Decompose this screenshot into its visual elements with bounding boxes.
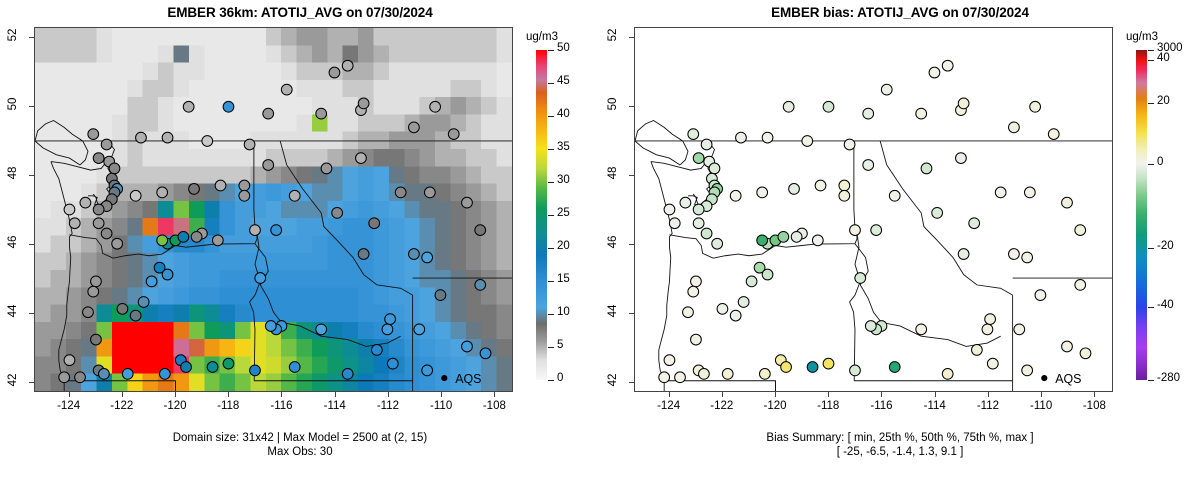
colorbar-units: ug/m3 (526, 31, 558, 43)
panel-model-caption-line2: Max Obs: 30 (0, 445, 600, 459)
panel-model: EMBER 36km: ATOTIJ_AVG on 07/30/2024 AQS… (0, 0, 600, 479)
model-map-layer: AQS (35, 28, 512, 391)
y-tick-label: 44 (607, 298, 619, 324)
x-tick (669, 392, 670, 397)
y-tick (29, 37, 34, 38)
panel-model-title: EMBER 36km: ATOTIJ_AVG on 07/30/2024 (0, 5, 600, 20)
y-tick (629, 175, 634, 176)
colorbar-tick-label: 15 (557, 273, 570, 285)
y-tick-label: 52 (7, 22, 19, 48)
figure-canvas: EMBER 36km: ATOTIJ_AVG on 07/30/2024 AQS… (0, 0, 1200, 479)
panel-bias-plot-frame[interactable]: AQS (634, 27, 1113, 392)
colorbar-tick-label: 25 (557, 207, 570, 219)
x-tick (722, 392, 723, 397)
colorbar-tick (548, 50, 554, 51)
colorbar-tick (548, 83, 554, 84)
x-tick (494, 392, 495, 397)
colorbar-tick (548, 281, 554, 282)
colorbar-tick-label: 50 (557, 42, 570, 54)
x-tick (935, 392, 936, 397)
colorbar-tick-label: 0 (557, 372, 563, 384)
y-tick-label: 48 (607, 160, 619, 186)
x-tick-label: -120 (753, 400, 797, 412)
colorbar-tick-label: 10 (557, 306, 570, 318)
x-tick-label: -116 (859, 400, 903, 412)
panel-bias: EMBER bias: ATOTIJ_AVG on 07/30/2024 AQS… (600, 0, 1200, 479)
x-tick (1094, 392, 1095, 397)
colorbar-tick-label: 40 (557, 108, 570, 120)
svg-text:AQS: AQS (1055, 372, 1081, 386)
colorbar-tick (1148, 248, 1154, 249)
colorbar-tick (1148, 60, 1154, 61)
x-tick-label: -114 (313, 400, 357, 412)
colorbar-units: ug/m3 (1126, 31, 1158, 43)
x-tick-label: -108 (472, 400, 516, 412)
colorbar-gradient[interactable] (1136, 50, 1147, 380)
colorbar-tick-label: 20 (557, 240, 570, 252)
y-tick (29, 244, 34, 245)
colorbar-tick (548, 380, 554, 381)
colorbar-tick-label: 35 (557, 141, 570, 153)
x-tick-label: -114 (913, 400, 957, 412)
colorbar-tick (1148, 50, 1154, 51)
x-tick-label: -120 (153, 400, 197, 412)
y-tick-label: 50 (7, 91, 19, 117)
colorbar-tick-label: -280 (1157, 372, 1180, 384)
colorbar-tick (548, 248, 554, 249)
x-tick (335, 392, 336, 397)
x-tick (122, 392, 123, 397)
y-tick (629, 382, 634, 383)
colorbar-tick-label: 30 (557, 174, 570, 186)
y-tick-label: 52 (607, 22, 619, 48)
x-tick (69, 392, 70, 397)
x-tick-label: -122 (700, 400, 744, 412)
x-tick (988, 392, 989, 397)
y-tick-label: 42 (7, 367, 19, 393)
x-tick (281, 392, 282, 397)
x-tick-label: -108 (1072, 400, 1116, 412)
x-tick-label: -124 (647, 400, 691, 412)
x-tick-label: -122 (100, 400, 144, 412)
y-tick-label: 50 (607, 91, 619, 117)
x-tick (175, 392, 176, 397)
x-tick-label: -112 (966, 400, 1010, 412)
colorbar-tick (548, 347, 554, 348)
x-tick-label: -110 (419, 400, 463, 412)
colorbar-tick-label: 20 (1157, 95, 1170, 107)
y-tick-label: 46 (7, 229, 19, 255)
x-tick-label: -116 (259, 400, 303, 412)
svg-text:AQS: AQS (455, 372, 481, 386)
y-tick (629, 106, 634, 107)
panel-bias-title: EMBER bias: ATOTIJ_AVG on 07/30/2024 (600, 5, 1200, 20)
colorbar-gradient[interactable] (536, 50, 547, 380)
y-tick (29, 106, 34, 107)
colorbar-tick-label: 5 (557, 339, 563, 351)
x-tick-label: -118 (206, 400, 250, 412)
x-tick (228, 392, 229, 397)
colorbar-tick (1148, 103, 1154, 104)
y-tick (29, 175, 34, 176)
colorbar-tick-label: 0 (1157, 156, 1163, 168)
colorbar-tick (548, 215, 554, 216)
colorbar-tick (548, 116, 554, 117)
panel-model-caption-line1: Domain size: 31x42 | Max Model = 2500 at… (0, 431, 600, 445)
x-tick-label: -124 (47, 400, 91, 412)
panel-bias-caption-line2: [ -25, -6.5, -1.4, 1.3, 9.1 ] (600, 445, 1200, 459)
x-tick (828, 392, 829, 397)
x-tick-label: -110 (1019, 400, 1063, 412)
colorbar-tick-label: -40 (1157, 299, 1174, 311)
colorbar-tick (548, 149, 554, 150)
colorbar-tick-label: 45 (557, 75, 570, 87)
colorbar-tick-label: 3000 (1157, 42, 1183, 54)
y-tick-label: 48 (7, 160, 19, 186)
x-tick (388, 392, 389, 397)
bias-map-layer: AQS (635, 28, 1112, 391)
y-tick (29, 382, 34, 383)
panel-bias-caption-line1: Bias Summary: [ min, 25th %, 50th %, 75t… (600, 431, 1200, 445)
colorbar-tick (548, 314, 554, 315)
y-tick (629, 37, 634, 38)
y-tick (29, 313, 34, 314)
colorbar-tick (1148, 307, 1154, 308)
x-tick (1041, 392, 1042, 397)
y-tick (629, 313, 634, 314)
x-tick (881, 392, 882, 397)
panel-model-plot-frame[interactable]: AQS (34, 27, 513, 392)
colorbar-tick-label: -20 (1157, 240, 1174, 252)
y-tick-label: 46 (607, 229, 619, 255)
x-tick (441, 392, 442, 397)
y-tick (629, 244, 634, 245)
x-tick-label: -118 (806, 400, 850, 412)
y-tick-label: 44 (7, 298, 19, 324)
colorbar-tick (1148, 164, 1154, 165)
x-tick-label: -112 (366, 400, 410, 412)
x-tick (775, 392, 776, 397)
y-tick-label: 42 (607, 367, 619, 393)
colorbar-tick (548, 182, 554, 183)
colorbar-tick (1148, 380, 1154, 381)
